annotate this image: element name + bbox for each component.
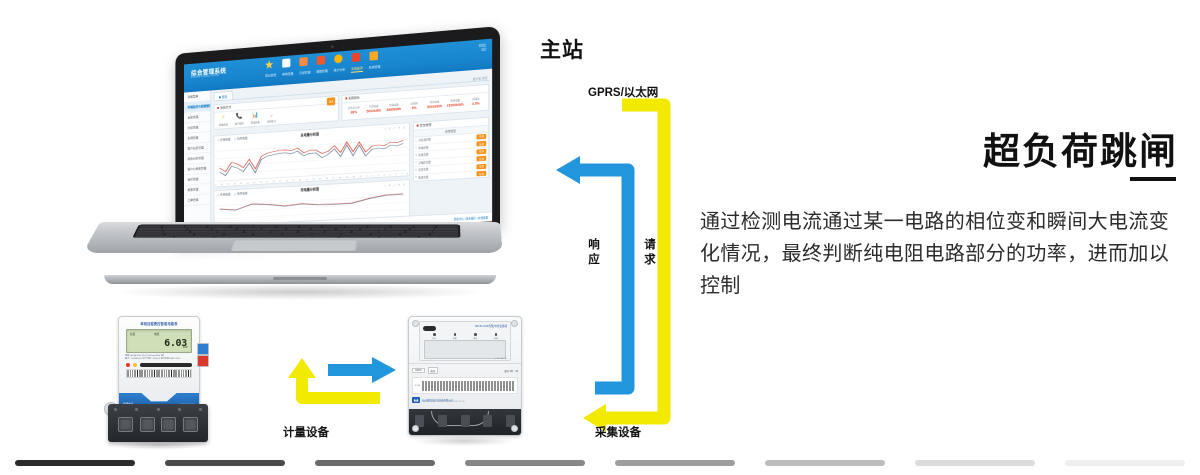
nav-item-5[interactable]: 系统监测 <box>351 65 363 73</box>
gprs-link-label: GPRS/以太网 <box>588 84 658 100</box>
screw-icon <box>412 320 419 327</box>
x-tick: 24 <box>312 178 314 180</box>
kpi-item-1: 日用电量5002kWh <box>364 103 384 113</box>
description-text: 通过检测电流通过某一电路的相位变和瞬间大电流变化情况，最终判断纯电阻电路部分的功… <box>700 206 1178 302</box>
x-tick: 1 <box>366 175 367 177</box>
x-tick: 30 <box>353 176 355 178</box>
x-tick: 31 <box>359 176 361 178</box>
laptop-screen: 综合管理系统 ZONGHE GUANLI XITONG 营业 <box>184 39 492 236</box>
keyboard <box>132 225 460 238</box>
kpi-value-2: 8565kWh <box>384 107 404 112</box>
lcd-unit: kWh <box>183 346 188 349</box>
shortcut-label-1: 客户服务 <box>234 121 245 126</box>
sidebar-label-6: 综合分析管理 <box>188 156 204 161</box>
meter-up-arrow-path <box>302 376 380 398</box>
collector-lcd-sub: V / B / 380/220 <box>495 358 507 360</box>
tab-home-label: 首页 <box>222 94 228 98</box>
ir-window-icon <box>140 363 192 368</box>
sidebar-item-10[interactable]: 工单管理 <box>184 194 210 206</box>
company-name-wrap: 长沙威胜信息产业技术有限公司 CHANGSHA WASION INFORMATI… <box>422 398 465 403</box>
collector-shadow <box>412 436 516 446</box>
nav-item-3[interactable]: 数据管理 <box>316 68 327 76</box>
laptop-shadow <box>110 284 490 300</box>
collector-terminal-block <box>409 409 521 435</box>
x-tick: 16 <box>260 181 262 183</box>
x-tick: 26 <box>326 178 328 180</box>
laptop-front-edge <box>104 275 496 284</box>
kpi-item-3: 总线损5% <box>404 100 424 110</box>
tab-bar-actions[interactable]: 最大化 关闭 <box>473 76 489 81</box>
led-icon <box>454 333 457 336</box>
title-divider <box>1130 177 1176 181</box>
led-icon <box>495 333 498 336</box>
x-tick: 18 <box>273 181 275 183</box>
meter-shadow <box>112 440 206 450</box>
response-arrow-head <box>556 156 580 184</box>
webcam-icon <box>331 45 334 48</box>
x-tick: 10 <box>221 184 223 186</box>
laptop-lid: 综合管理系统 ZONGHE GUANLI XITONG 营业 <box>175 26 500 245</box>
screw-icon <box>511 320 518 327</box>
row-action-button[interactable]: 处理 <box>477 164 486 170</box>
led-icon <box>474 333 477 336</box>
warning-icon <box>416 125 418 127</box>
sidebar-label-5: 客户台区管理 <box>188 146 204 151</box>
meter-body: 单相远程费控智能电能表 总量 电能 6.03 kWh 规格 5(60)A 50H… <box>118 316 200 410</box>
x-tick: 23 <box>306 179 308 181</box>
mail-icon[interactable] <box>352 53 360 62</box>
alarm-table-title: 异常告警 <box>420 123 432 128</box>
key-row <box>138 228 458 230</box>
shortcut-label-0: 用电申请 <box>218 122 229 127</box>
kpi-value-1: 5002kWh <box>364 108 384 113</box>
key-row <box>136 233 459 235</box>
tab-marker-icon <box>219 96 221 98</box>
bottom-bar-3 <box>465 460 585 466</box>
x-tick: 6 <box>395 174 396 176</box>
kpi-value-0: 98% <box>344 110 364 115</box>
kpi-value-6: 4.5% <box>465 101 486 106</box>
bullet-icon <box>345 97 347 99</box>
bottom-progress-bars <box>0 460 1200 466</box>
meter-terminal-block <box>108 404 208 442</box>
x-tick: 27 <box>332 177 334 179</box>
x-tick: 21 <box>292 179 294 181</box>
meter-lcd: 总量 电能 6.03 kWh <box>126 329 192 353</box>
collector-lcd <box>424 340 506 359</box>
bottom-bar-0 <box>15 460 135 466</box>
nav-item-0[interactable]: 营业收费 <box>265 72 276 80</box>
tag-module: 模块 <box>428 367 439 374</box>
x-tick: 2 <box>372 175 373 177</box>
meter-side-tab-red <box>197 355 209 367</box>
sidebar-label-3: 交采管理 <box>188 125 199 130</box>
collector-top: MDJK-1000型集中抄表终端 运行 告警 通讯 电源 V / B / 380… <box>409 317 521 364</box>
company-logo-icon <box>412 397 420 403</box>
edit-icon[interactable] <box>282 58 290 67</box>
bottom-bar-6 <box>915 460 1035 466</box>
x-tick: 9 <box>215 184 216 186</box>
shortcut-label-3: 负荷统计 <box>266 119 277 124</box>
x-tick: 13 <box>240 183 242 185</box>
meter-indicators <box>126 363 192 368</box>
key-row <box>134 236 458 238</box>
laptop-deck <box>83 222 503 253</box>
barcode-key: K-20 <box>415 385 420 387</box>
collector-label-area: GPRS 模块 编号 NO：08 K-20 长沙威胜信息产业技术有限公司 CHA… <box>409 364 521 412</box>
kpi-item-0: 台区总功率98% <box>344 105 364 115</box>
key-row <box>139 225 458 227</box>
company-name-sub: CHANGSHA WASION INFORMATION TECHNOLOGY C… <box>422 402 465 403</box>
meter-spec-text: 规格 5(60)A 50Hz 220V 1600imp/kWh 1级 编号：20… <box>125 355 193 361</box>
sidebar-label-9: 报表管理 <box>188 187 199 191</box>
star-icon[interactable] <box>265 60 273 69</box>
x-tick: 28 <box>339 177 341 179</box>
collector-device: MDJK-1000型集中抄表终端 运行 告警 通讯 电源 V / B / 380… <box>408 316 526 446</box>
row-action-button[interactable]: 处理 <box>477 134 486 140</box>
app-sidebar[interactable]: 功能菜单› 终端监控与数据管理› 台区管理 交采管理 负荷管理 客户台区管理 综… <box>184 90 211 227</box>
x-tick: 17 <box>266 181 268 183</box>
laptop-base <box>83 222 503 253</box>
yellow-led-icon <box>133 363 137 367</box>
collector-device-label: 采集设备 <box>595 424 641 440</box>
row-action-button[interactable]: 处理 <box>477 149 486 155</box>
meter-spec-line2: 编号：201805001 生产日期：2018.05 执行标准 GB/T17215 <box>125 358 193 361</box>
sidebar-label-2: 台区管理 <box>188 115 199 120</box>
meter-up-arrow-head <box>288 358 316 378</box>
tab-home[interactable]: 首页 <box>214 91 233 101</box>
kpi-value-4: 9002kWh <box>424 104 444 109</box>
x-tick: 8 <box>407 173 408 175</box>
meter-barcode <box>126 369 192 378</box>
x-tick: 5 <box>389 174 390 176</box>
shortcut-panel-title: 快捷方式 <box>220 105 231 110</box>
bottom-bar-7 <box>1065 460 1185 466</box>
lcd-label-mid: 电能 <box>154 332 159 336</box>
x-tick: 11 <box>227 183 229 185</box>
screw-icon <box>511 425 518 432</box>
bottom-bar-2 <box>315 460 435 466</box>
x-tick: 7 <box>401 173 402 175</box>
metering-device: 单相远程费控智能电能表 总量 电能 6.03 kWh 规格 5(60)A 50H… <box>106 316 212 444</box>
shortcut-item-2[interactable]: 📊用电分析 <box>250 112 261 124</box>
terminal-ports <box>415 415 515 427</box>
nav-item-1[interactable]: 用电管理 <box>282 71 293 79</box>
app-content: 首页 最大化 关闭 快捷方式 更多 ⚡ <box>211 69 492 227</box>
kpi-item-5: 月供电量15300kWh <box>445 98 466 108</box>
list-icon[interactable] <box>317 56 325 65</box>
laptop-illustration: 综合管理系统 ZONGHE GUANLI XITONG 营业 <box>100 26 500 306</box>
key-row <box>137 231 458 233</box>
terminal-ports <box>118 417 198 432</box>
diagram-stage: 综合管理系统 ZONGHE GUANLI XITONG 营业 <box>0 0 1200 475</box>
sidebar-label-8: 电价管理 <box>188 177 199 181</box>
trackpad[interactable] <box>231 239 358 250</box>
row-action-button[interactable]: 处理 <box>477 141 486 147</box>
kpi-item-4: 月用电量9002kWh <box>424 99 444 109</box>
row-action-button[interactable]: 处理 <box>477 171 486 177</box>
nav-item-4[interactable]: 统计分析 <box>334 66 345 74</box>
collector-brand: 长沙威胜信息产业技术有限公司 CHANGSHA WASION INFORMATI… <box>412 397 518 403</box>
shortcut-item-3[interactable]: 📈负荷统计 <box>266 111 277 123</box>
kpi-item-2: 日供电量8565kWh <box>384 102 404 112</box>
logout-link[interactable]: 退出 <box>479 47 487 52</box>
x-tick: 20 <box>286 180 288 182</box>
alarm-table-panel: 异常告警 告警类型 1过负荷告警处理 2停电告警处理 3功率告警处理 4过电压告… <box>413 117 490 182</box>
kpi-value-5: 15300kWh <box>445 102 466 107</box>
nav-item-6[interactable]: 系统管理 <box>369 64 381 72</box>
tag-gprs: GPRS <box>412 368 425 373</box>
bottom-bar-4 <box>615 460 735 466</box>
row-action-button[interactable]: 处理 <box>477 156 486 162</box>
response-arrow-path <box>578 170 628 388</box>
x-tick: 4 <box>384 174 385 176</box>
clock-icon[interactable] <box>334 54 342 63</box>
lcd-label-left: 总量 <box>130 332 135 336</box>
barcode-icon <box>422 381 515 391</box>
calendar-icon[interactable] <box>299 57 307 66</box>
sidebar-label-7: 客户公用变管理 <box>188 166 207 171</box>
bullet-icon <box>217 107 219 109</box>
x-tick: 14 <box>247 182 249 184</box>
dashboard-app: 综合管理系统 ZONGHE GUANLI XITONG 营业 <box>184 39 492 236</box>
request-label: 请求 <box>644 238 656 268</box>
meter-right-arrow-head <box>372 357 396 383</box>
shortcut-item-0[interactable]: ⚡用电申请 <box>218 115 229 127</box>
ir-port-icon <box>423 326 436 331</box>
master-station-label: 主站 <box>540 34 584 64</box>
user-menu[interactable]: 管理员 退出 <box>479 43 487 52</box>
x-tick: 15 <box>253 182 255 184</box>
bottom-bar-1 <box>165 460 285 466</box>
page-title: 超负荷跳闸 <box>983 121 1178 175</box>
bottom-bar-5 <box>765 460 885 466</box>
collector-module-tags: GPRS 模块 编号 NO：08 <box>412 367 518 374</box>
nav-item-2[interactable]: 日常管理 <box>299 69 310 77</box>
shortcut-item-1[interactable]: 📞客户服务 <box>234 114 245 126</box>
collector-barcode-row: K-20 <box>412 377 518 394</box>
meter-side-tab-blue <box>197 343 209 355</box>
meter-title: 单相远程费控智能电能表 <box>119 321 199 326</box>
collector-head-panel: MDJK-1000型集中抄表终端 运行 告警 通讯 电源 V / B / 380… <box>419 321 511 361</box>
app-body: 功能菜单› 终端监控与数据管理› 台区管理 交采管理 负荷管理 客户台区管理 综… <box>184 69 492 228</box>
sidebar-label-4: 负荷管理 <box>188 136 199 140</box>
chart-panel-top: 日用电量 日供电量 总电量分析图 ⌂ ↻ ⤢ ⟳ ⎙ <box>214 122 410 187</box>
screw-icon <box>412 425 419 432</box>
row-name: 失流告警 <box>418 172 476 179</box>
sidebar-label-0: 功能菜单 <box>188 94 199 99</box>
led-icon <box>433 333 436 336</box>
kpi-panel-title: 关键指标 <box>348 95 359 100</box>
x-tick: 3 <box>378 175 379 177</box>
collector-body: MDJK-1000型集中抄表终端 运行 告警 通讯 电源 V / B / 380… <box>408 316 522 436</box>
tag-number: 编号 NO：08 <box>504 369 518 373</box>
kpi-item-6: 月线损4.5% <box>465 96 486 106</box>
shortcut-label-2: 用电分析 <box>250 120 261 125</box>
red-led-icon <box>126 363 130 367</box>
settings-icon[interactable] <box>369 51 377 60</box>
x-tick: 12 <box>234 183 236 185</box>
x-tick: 19 <box>279 180 281 182</box>
metering-device-label: 计量设备 <box>283 424 329 440</box>
x-tick: 29 <box>346 176 348 178</box>
x-tick: 25 <box>319 178 321 180</box>
more-badge[interactable]: 更多 <box>327 98 335 107</box>
x-tick: 22 <box>299 179 301 181</box>
kpi-value-3: 5% <box>404 105 424 110</box>
terminal-screws <box>114 408 202 411</box>
sidebar-label-10: 工单管理 <box>188 198 199 202</box>
app-footer-links[interactable]: 帮助中心 | 联系我们 | 在线客服 <box>454 215 488 221</box>
response-label: 响应 <box>588 238 600 268</box>
collector-leds <box>424 333 506 336</box>
